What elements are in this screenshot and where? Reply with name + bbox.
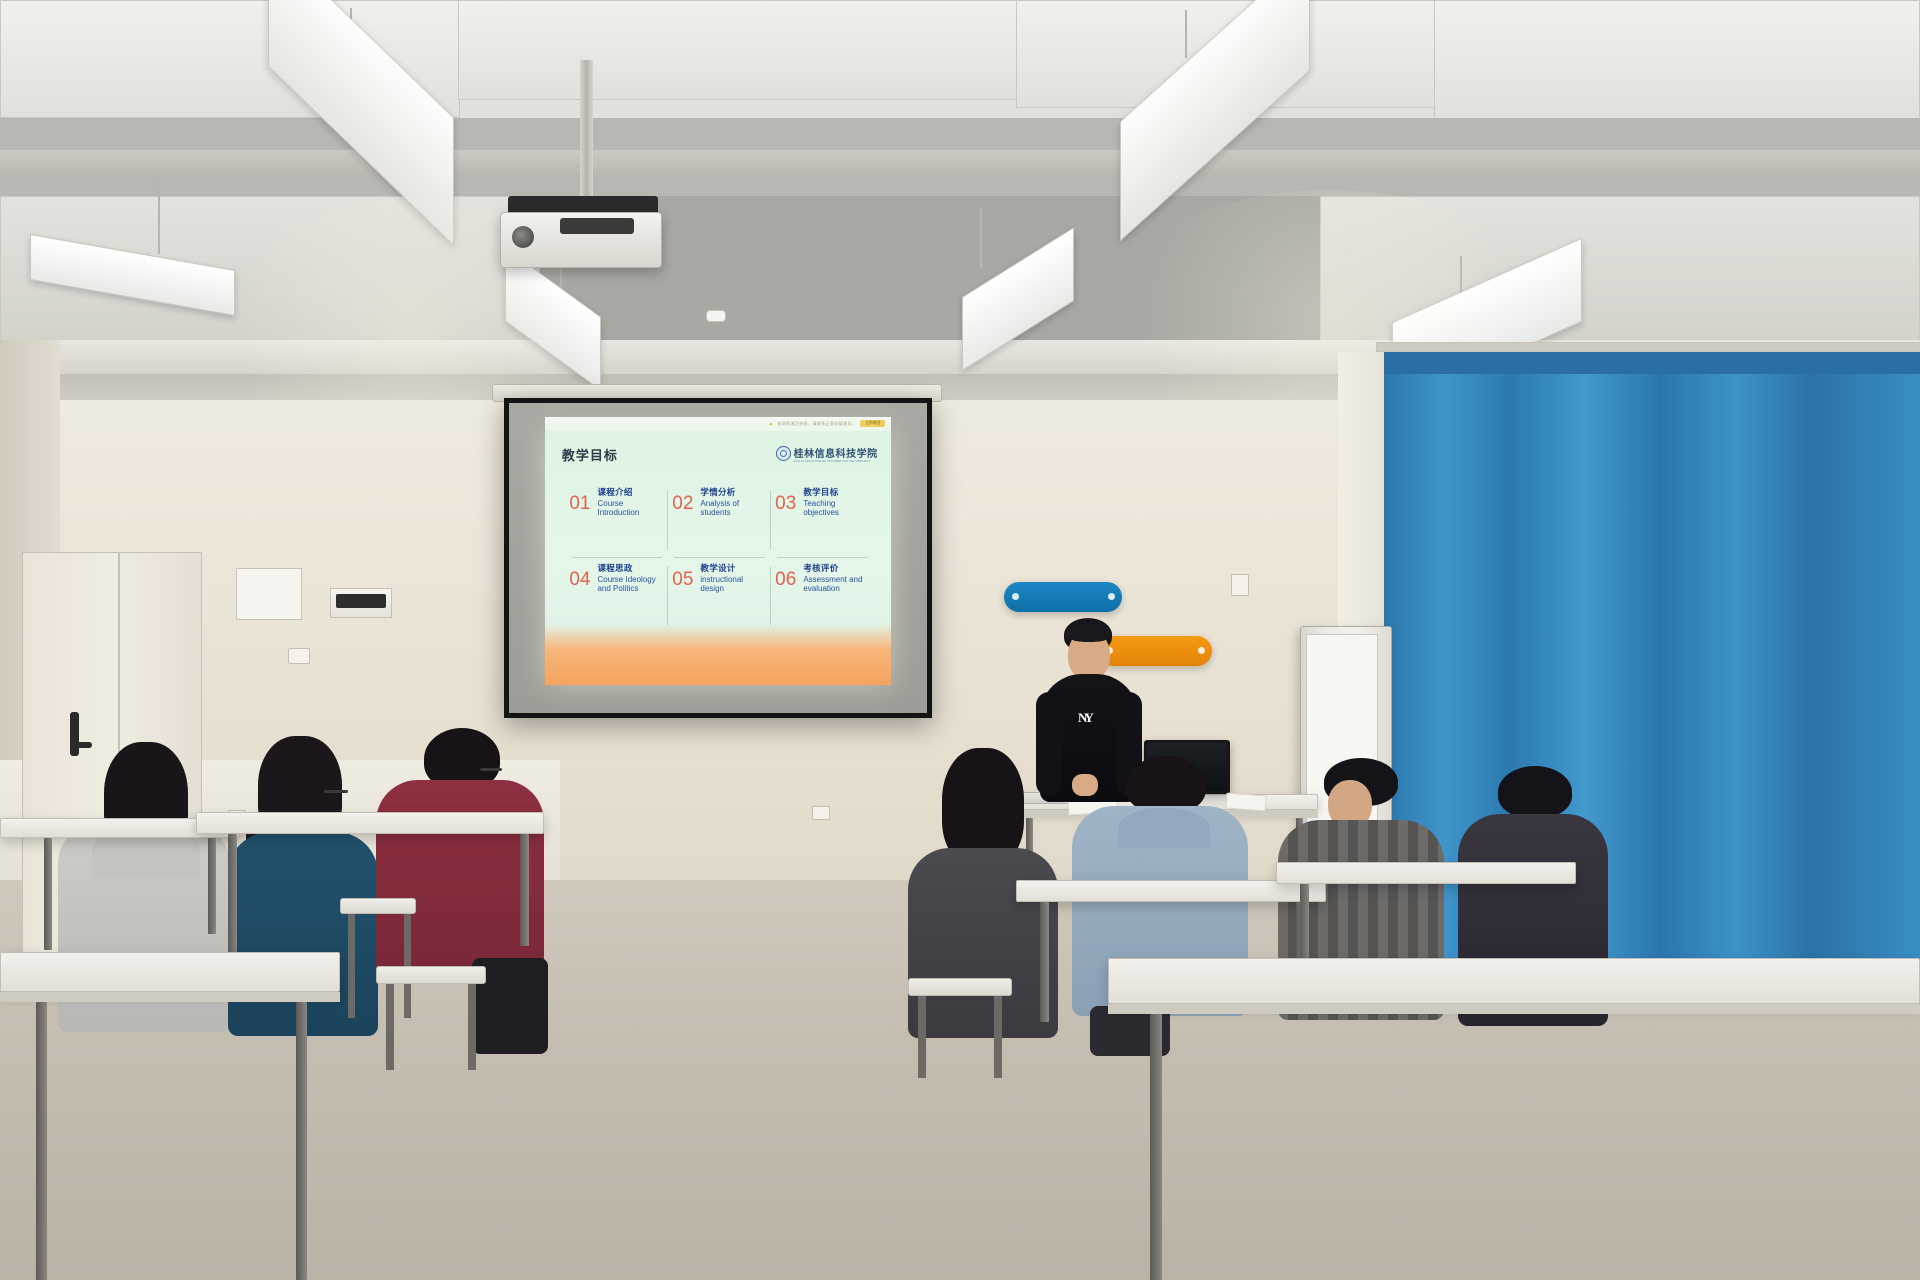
bar-fixing-dot (1108, 593, 1115, 600)
desk-leg (520, 834, 529, 946)
objective-item: 06 考核评价 Assessment and evaluation (771, 558, 874, 634)
objective-item: 01 课程介绍 Course Introduction (565, 482, 668, 558)
stool[interactable] (340, 898, 416, 914)
classroom-photo: ▲ 检测到激活失败，请联系正版化管理员。 立即激活 教学目标 桂林信息科技学院 … (0, 0, 1920, 1280)
objective-item: 03 教学目标 Teaching objectives (771, 482, 874, 558)
vent-slot (336, 594, 386, 608)
ceiling-panel (458, 0, 1018, 100)
institution-name-en: GUILIN INSTITUTE OF INFORMATION TECHNOLO… (794, 460, 878, 463)
stool[interactable] (908, 978, 1012, 996)
objective-number: 06 (775, 562, 796, 589)
activate-button[interactable]: 立即激活 (860, 420, 885, 427)
objective-number: 01 (569, 486, 590, 513)
student-torso (908, 848, 1058, 1038)
objective-title-en: Analysis of students (700, 499, 763, 518)
objective-title-en: Teaching objectives (803, 499, 866, 518)
objective-title-cn: 课程思政 (597, 562, 660, 574)
wall-sign (236, 568, 302, 620)
foreground-desk (0, 952, 340, 992)
ny-chest-logo: NY (1078, 710, 1091, 726)
student-torso (376, 780, 544, 976)
presenter-hair-front (1066, 624, 1112, 642)
objective-title-cn: 教学目标 (803, 486, 866, 498)
objective-title-cn: 课程介绍 (597, 486, 660, 498)
light-rod (158, 176, 160, 254)
objective-title-en: instructional design (700, 575, 763, 594)
objective-title-cn: 考核评价 (803, 562, 866, 574)
objective-number: 02 (672, 486, 693, 513)
desk-leg (44, 838, 52, 950)
screen-surface: ▲ 检测到激活失败，请联系正版化管理员。 立即激活 教学目标 桂林信息科技学院 … (509, 403, 927, 713)
bar-fixing-dot (1198, 647, 1205, 654)
stool-leg (348, 914, 355, 1018)
objective-title-en: Course Ideology and Politics (597, 575, 660, 594)
wall-socket[interactable] (288, 648, 310, 664)
light-rod (980, 208, 982, 268)
slide-header: 教学目标 桂林信息科技学院 GUILIN INSTITUTE OF INFORM… (562, 445, 878, 464)
activation-warning-bar: ▲ 检测到激活失败，请联系正版化管理员。 立即激活 (545, 417, 892, 431)
light-rod (1185, 10, 1187, 58)
ceiling-sprinkler (706, 310, 726, 322)
warning-text: 检测到激活失败，请联系正版化管理员。 (777, 421, 856, 427)
bar-fixing-dot (1012, 593, 1019, 600)
warning-triangle-icon: ▲ (768, 421, 773, 427)
student-glasses (480, 768, 502, 771)
desk-leg (228, 834, 237, 954)
projector-mount-pole (580, 60, 593, 200)
objective-number: 04 (569, 562, 590, 589)
objective-item: 02 学情分析 Analysis of students (668, 482, 771, 558)
desk-leg (296, 1002, 307, 1280)
institution-logo: 桂林信息科技学院 GUILIN INSTITUTE OF INFORMATION… (776, 445, 878, 463)
university-seal-icon (776, 446, 791, 461)
institution-name-cn: 桂林信息科技学院 (794, 445, 878, 460)
stool-leg (386, 984, 394, 1070)
desk-leg (36, 1002, 47, 1280)
foreground-desk-edge (1108, 1004, 1920, 1014)
student-collar (1118, 808, 1210, 848)
projected-slide: 教学目标 桂林信息科技学院 GUILIN INSTITUTE OF INFORM… (545, 431, 892, 685)
foreground-desk-edge (0, 992, 340, 1002)
projection-screen: ▲ 检测到激活失败，请联系正版化管理员。 立即激活 教学目标 桂林信息科技学院 … (504, 398, 932, 718)
objective-title-en: Course Introduction (597, 499, 660, 518)
objective-number: 03 (775, 486, 796, 513)
student-hair (1498, 766, 1572, 818)
foreground-desk (1108, 958, 1920, 1004)
objective-item: 04 课程思政 Course Ideology and Politics (565, 558, 668, 634)
desk-leg (1040, 902, 1049, 1022)
stool-leg (918, 996, 926, 1078)
student-glasses (324, 790, 348, 793)
objective-item: 05 教学设计 instructional design (668, 558, 771, 634)
student-desk (196, 812, 544, 834)
objective-title-en: Assessment and evaluation (803, 575, 866, 594)
desk-leg (208, 838, 216, 934)
ceiling-panel (1434, 0, 1920, 120)
student-desk (1276, 862, 1576, 884)
stool[interactable] (376, 966, 486, 984)
slide-title: 教学目标 (562, 445, 618, 464)
curtain-rail (1376, 342, 1920, 352)
objective-number: 05 (672, 562, 693, 589)
stool-leg (468, 984, 476, 1070)
objective-title-cn: 学情分析 (700, 486, 763, 498)
blue-wall-bar (1004, 582, 1122, 612)
desk-leg (1150, 1014, 1162, 1280)
student-3 (376, 728, 544, 1048)
objective-title-cn: 教学设计 (700, 562, 763, 574)
stool-leg (994, 996, 1002, 1078)
objectives-grid: 01 课程介绍 Course Introduction 02 学情分析 Anal… (565, 482, 874, 635)
projector-vent (560, 218, 634, 234)
wall-switch[interactable] (1231, 574, 1249, 596)
ceiling-beam (0, 150, 1920, 176)
projector-lens (512, 226, 534, 248)
wall-socket[interactable] (812, 806, 830, 820)
